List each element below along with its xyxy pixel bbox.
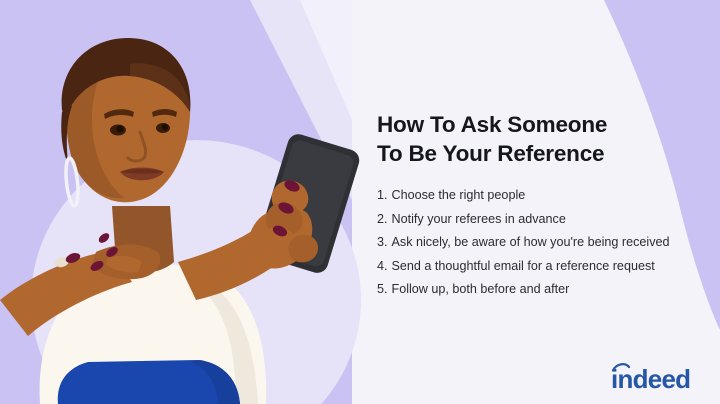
page-title: How To Ask Someone To Be Your Reference — [377, 110, 707, 168]
step-text: Choose the right people — [392, 189, 526, 202]
steps-list: 1. Choose the right people 2. Notify you… — [377, 189, 707, 296]
indeed-logo[interactable]: indeed — [611, 361, 706, 395]
list-item: 3. Ask nicely, be aware of how you're be… — [377, 236, 707, 249]
step-number: 3. — [377, 236, 388, 249]
list-item: 5. Follow up, both before and after — [377, 283, 707, 296]
text-column: How To Ask Someone To Be Your Reference … — [377, 110, 707, 307]
step-text: Notify your referees in advance — [392, 213, 566, 226]
list-item: 1. Choose the right people — [377, 189, 707, 202]
slide-canvas: How To Ask Someone To Be Your Reference … — [0, 0, 720, 404]
step-number: 2. — [377, 213, 388, 226]
step-text: Ask nicely, be aware of how you're being… — [392, 236, 670, 249]
list-item: 2. Notify your referees in advance — [377, 213, 707, 226]
step-text: Send a thoughtful email for a reference … — [392, 260, 655, 273]
step-number: 5. — [377, 283, 388, 296]
indeed-wordmark-icon: indeed — [611, 361, 706, 395]
step-number: 4. — [377, 260, 388, 273]
indeed-wordmark-text: indeed — [611, 364, 690, 394]
list-item: 4. Send a thoughtful email for a referen… — [377, 260, 707, 273]
step-text: Follow up, both before and after — [392, 283, 570, 296]
step-number: 1. — [377, 189, 388, 202]
